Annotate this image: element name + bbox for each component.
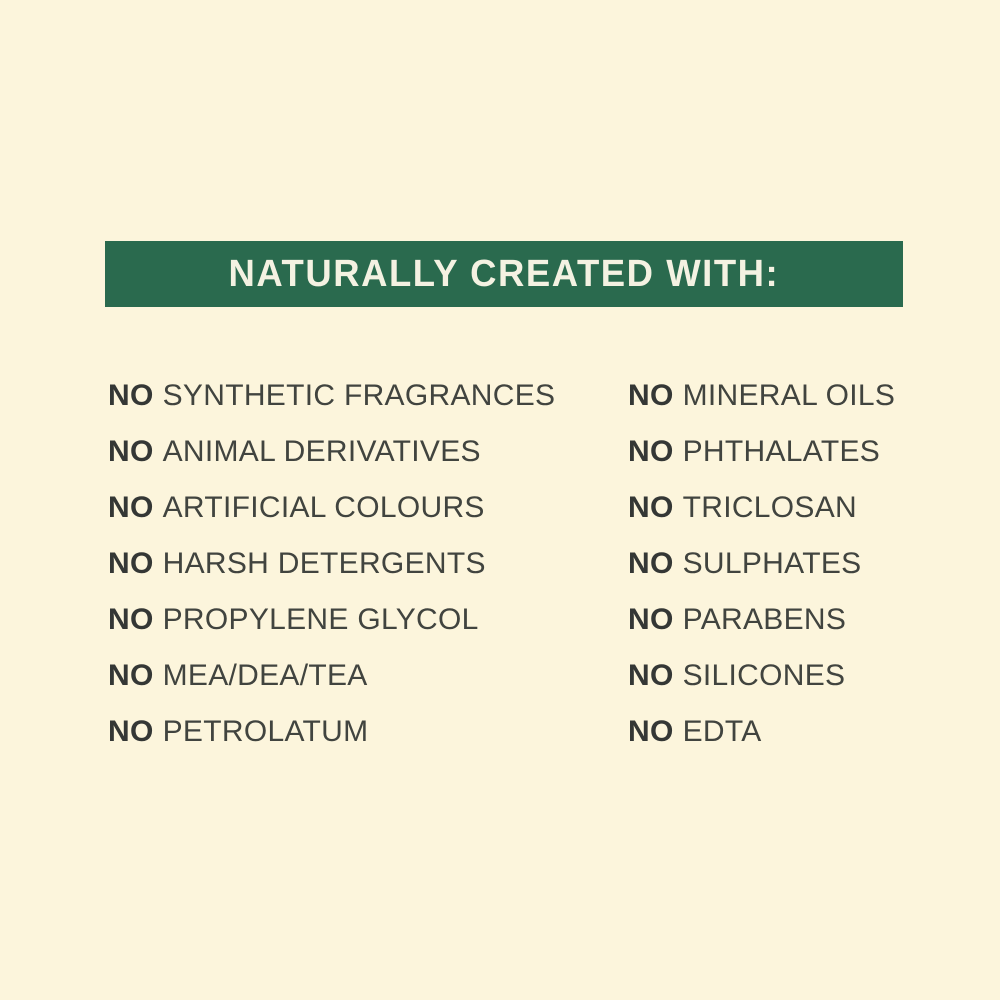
list-item: NOSYNTHETIC FRAGRANCES [108, 368, 608, 424]
list-item: NOEDTA [628, 704, 988, 760]
list-item: NOHARSH DETERGENTS [108, 536, 608, 592]
list-item-prefix: NO [628, 715, 674, 748]
list-item-label: SILICONES [683, 659, 846, 692]
list-item: NOPETROLATUM [108, 704, 608, 760]
list-item-prefix: NO [108, 659, 154, 692]
list-item-prefix: NO [628, 379, 674, 412]
ingredient-claims-graphic: NATURALLY CREATED WITH: NOSYNTHETIC FRAG… [0, 0, 1000, 1000]
list-item-label: ARTIFICIAL COLOURS [163, 491, 485, 524]
list-item-prefix: NO [108, 547, 154, 580]
list-item-label: EDTA [683, 715, 762, 748]
list-item-prefix: NO [628, 659, 674, 692]
list-item-prefix: NO [108, 491, 154, 524]
list-item-prefix: NO [628, 435, 674, 468]
list-item-prefix: NO [108, 435, 154, 468]
list-item: NOSULPHATES [628, 536, 988, 592]
ingredient-list-right-column: NOMINERAL OILS NOPHTHALATES NOTRICLOSAN … [628, 368, 988, 760]
list-item: NOPROPYLENE GLYCOL [108, 592, 608, 648]
list-item: NOARTIFICIAL COLOURS [108, 480, 608, 536]
list-item-label: PETROLATUM [163, 715, 369, 748]
list-item: NOPARABENS [628, 592, 988, 648]
list-item-label: SULPHATES [683, 547, 862, 580]
list-item: NOTRICLOSAN [628, 480, 988, 536]
list-item-label: HARSH DETERGENTS [163, 547, 486, 580]
list-item-label: SYNTHETIC FRAGRANCES [163, 379, 556, 412]
list-item: NOPHTHALATES [628, 424, 988, 480]
list-item-label: ANIMAL DERIVATIVES [163, 435, 481, 468]
list-item-label: TRICLOSAN [683, 491, 857, 524]
list-item-prefix: NO [108, 603, 154, 636]
list-item: NOMEA/DEA/TEA [108, 648, 608, 704]
list-item-label: PHTHALATES [683, 435, 881, 468]
list-item: NOSILICONES [628, 648, 988, 704]
list-item-prefix: NO [108, 379, 154, 412]
list-item-prefix: NO [628, 491, 674, 524]
list-item-label: PROPYLENE GLYCOL [163, 603, 479, 636]
ingredient-list-container: NOSYNTHETIC FRAGRANCES NOANIMAL DERIVATI… [0, 0, 1000, 1000]
ingredient-list-left-column: NOSYNTHETIC FRAGRANCES NOANIMAL DERIVATI… [108, 368, 608, 760]
list-item-label: PARABENS [683, 603, 847, 636]
list-item-label: MINERAL OILS [683, 379, 896, 412]
list-item-label: MEA/DEA/TEA [163, 659, 368, 692]
list-item: NOANIMAL DERIVATIVES [108, 424, 608, 480]
list-item: NOMINERAL OILS [628, 368, 988, 424]
list-item-prefix: NO [108, 715, 154, 748]
list-item-prefix: NO [628, 547, 674, 580]
list-item-prefix: NO [628, 603, 674, 636]
